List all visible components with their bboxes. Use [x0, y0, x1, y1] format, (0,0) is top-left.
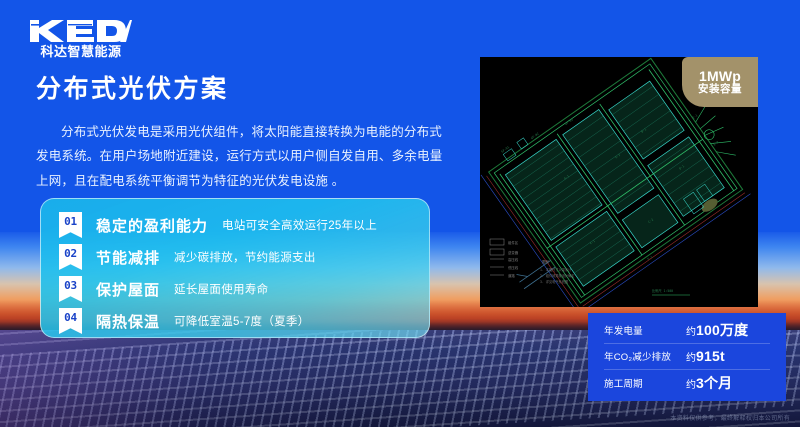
- feature-description: 可降低室温5-7度（夏季）: [174, 313, 310, 329]
- slide-root: 科达智慧能源 分布式光伏方案 分布式光伏发电是采用光伏组件，将太阳能直接转换为电…: [0, 0, 800, 427]
- capacity-label: 安装容量: [698, 84, 742, 95]
- feature-number: 01: [59, 215, 82, 228]
- feature-description: 减少碳排放，节约能源支出: [174, 249, 316, 265]
- stat-number: 3个月: [696, 375, 732, 391]
- svg-text:3. 详见电气系统图: 3. 详见电气系统图: [540, 279, 568, 284]
- stat-label: 年发电量: [604, 323, 686, 337]
- feature-number: 02: [59, 247, 82, 260]
- feature-description: 延长屋面使用寿命: [174, 281, 268, 297]
- footer-disclaimer: 本资料仅供参考，最终解释权归本公司所有: [0, 413, 790, 422]
- stat-prefix: 约: [686, 327, 696, 338]
- stat-value: 约100万度: [686, 320, 748, 340]
- stat-label: 施工周期: [604, 376, 686, 390]
- feature-number: 04: [59, 311, 82, 324]
- keda-wordmark-icon: [28, 18, 134, 44]
- feature-title: 保护屋面: [96, 279, 160, 300]
- page-title: 分布式光伏方案: [36, 76, 229, 104]
- stat-row: 年发电量 约100万度: [604, 317, 770, 344]
- capacity-value: 1MWp: [699, 69, 741, 83]
- feature-title: 隔热保温: [96, 311, 160, 332]
- feature-item[interactable]: 04 隔热保温 可降低室温5-7度（夏季）: [41, 305, 429, 337]
- stats-panel: 年发电量 约100万度 年CO₂减少排放 约915t 施工周期 约3个月: [588, 313, 786, 401]
- svg-text:比例尺 1:500: 比例尺 1:500: [652, 288, 673, 293]
- ribbon-badge-icon: 04: [59, 308, 82, 334]
- feature-list-card: 01 稳定的盈利能力 电站可安全高效运行25年以上 02 节能减排 减少碳排放，…: [40, 198, 430, 338]
- brand-subtitle: 科达智慧能源: [28, 45, 134, 58]
- svg-text:组件区: 组件区: [508, 240, 519, 245]
- feature-description: 电站可安全高效运行25年以上: [222, 217, 377, 233]
- brand-logo: 科达智慧能源: [28, 18, 134, 58]
- feature-title: 节能减排: [96, 247, 160, 268]
- capacity-badge: 1MWp 安装容量: [682, 57, 758, 107]
- stat-number: 100万度: [696, 322, 748, 338]
- stat-value: 约3个月: [686, 373, 732, 393]
- stat-prefix: 约: [686, 353, 696, 364]
- stat-prefix: 约: [686, 380, 696, 391]
- svg-text:低压线: 低压线: [508, 265, 519, 270]
- ribbon-badge-icon: 01: [59, 212, 82, 238]
- svg-text:道路: 道路: [508, 273, 515, 278]
- feature-title: 稳定的盈利能力: [96, 215, 208, 236]
- intro-paragraph: 分布式光伏发电是采用光伏组件，将太阳能直接转换为电能的分布式发电系统。在用户场地…: [36, 120, 448, 193]
- stat-value: 约915t: [686, 348, 725, 364]
- svg-text:1. 本图尺寸以毫米计: 1. 本图尺寸以毫米计: [540, 267, 572, 272]
- stat-row: 年CO₂减少排放 约915t: [604, 344, 770, 371]
- ribbon-badge-icon: 02: [59, 244, 82, 270]
- stat-number: 915t: [696, 348, 725, 364]
- feature-item[interactable]: 02 节能减排 减少碳排放，节约能源支出: [41, 241, 429, 273]
- feature-number: 03: [59, 279, 82, 292]
- svg-text:逆变器: 逆变器: [508, 250, 519, 255]
- feature-item[interactable]: 03 保护屋面 延长屋面使用寿命: [41, 273, 429, 305]
- svg-text:图例: 图例: [542, 259, 549, 264]
- cad-site-plan-image[interactable]: GF-01GF-02 GF-03A-1 A-2B-1 C-1C-2 D-1E-1…: [480, 57, 758, 307]
- feature-item[interactable]: 01 稳定的盈利能力 电站可安全高效运行25年以上: [41, 209, 429, 241]
- stat-label: 年CO₂减少排放: [604, 349, 686, 363]
- ribbon-badge-icon: 03: [59, 276, 82, 302]
- stat-row: 施工周期 约3个月: [604, 370, 770, 397]
- svg-text:2. 组件倾角按设计确定: 2. 组件倾角按设计确定: [540, 273, 575, 278]
- svg-text:高压线: 高压线: [508, 257, 519, 262]
